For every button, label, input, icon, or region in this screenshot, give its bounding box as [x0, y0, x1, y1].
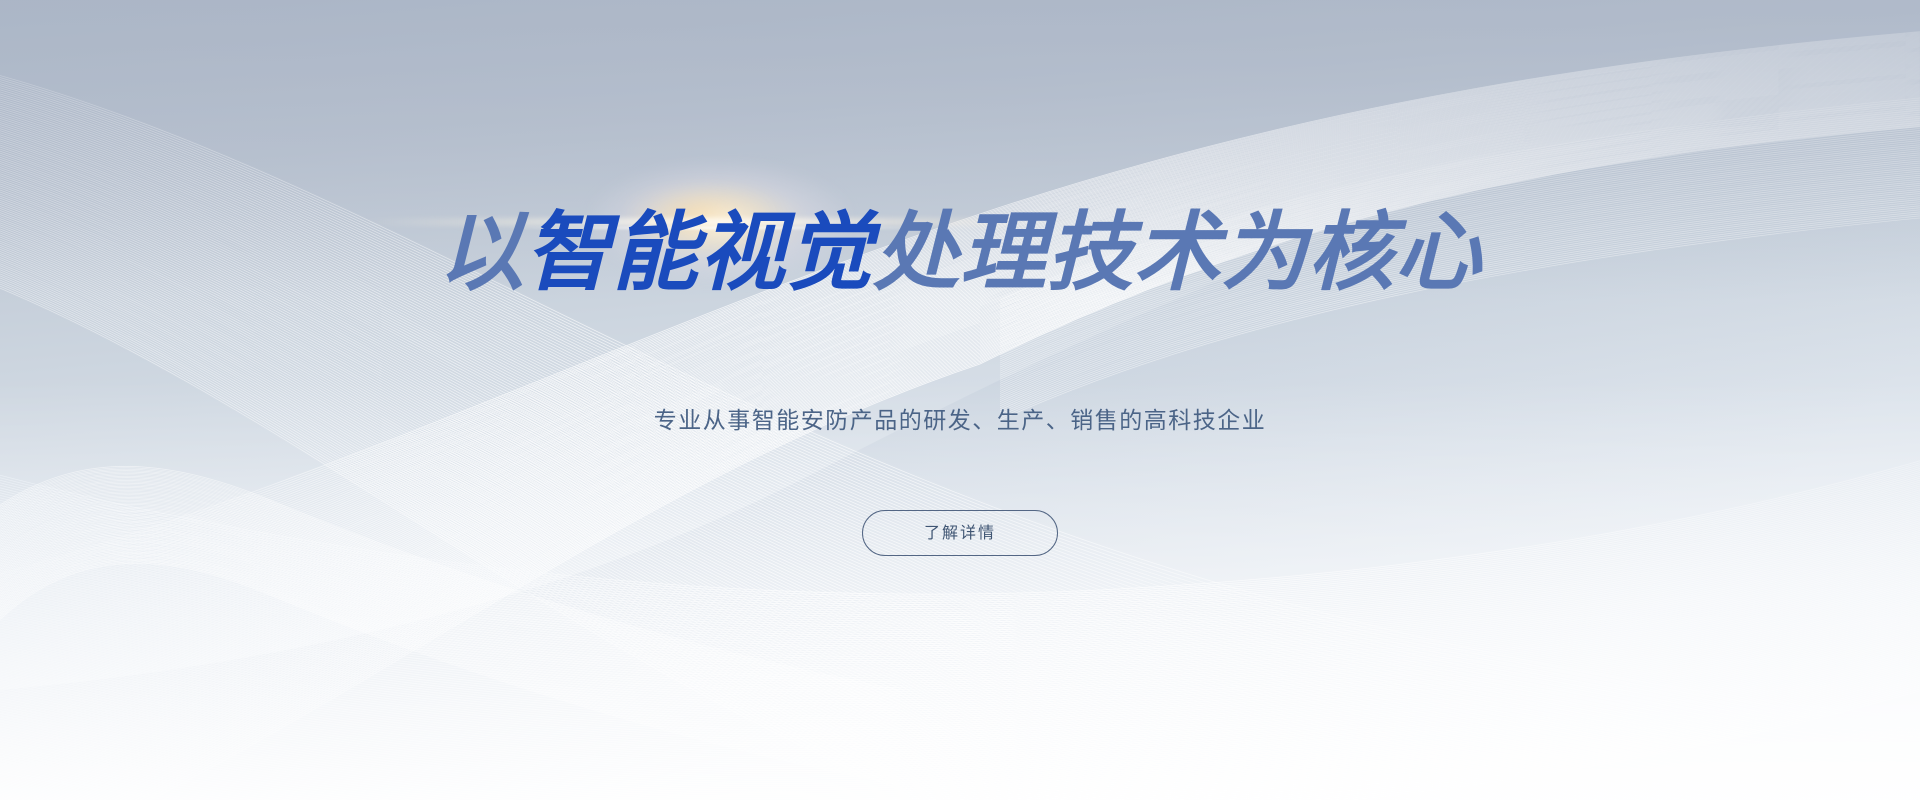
- page-title: 以智能视觉处理技术为核心: [0, 210, 1920, 296]
- bottom-gradient-wash: [0, 380, 1920, 800]
- headline-segment-accent: 智能视觉: [525, 205, 873, 301]
- cta-container: 了解详情: [0, 510, 1920, 556]
- hero-banner: 以智能视觉处理技术为核心 专业从事智能安防产品的研发、生产、销售的高科技企业 了…: [0, 0, 1920, 800]
- learn-more-button[interactable]: 了解详情: [862, 510, 1058, 556]
- page-subtitle: 专业从事智能安防产品的研发、生产、销售的高科技企业: [0, 404, 1920, 436]
- wave-line-mesh: [0, 0, 1920, 800]
- headline-segment-lead: 以: [438, 205, 525, 301]
- headline-segment-tail: 处理技术为核心: [873, 205, 1482, 301]
